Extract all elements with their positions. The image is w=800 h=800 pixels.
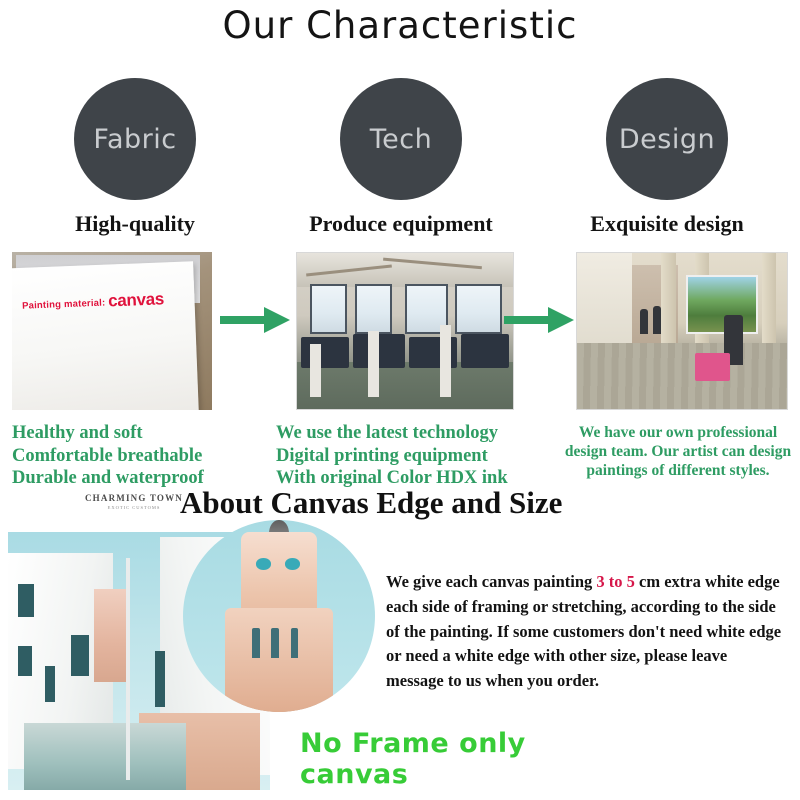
feature-caption-design: Exquisite design bbox=[534, 211, 800, 237]
tower-dome-detail bbox=[256, 558, 271, 570]
feature-blurb-design: We have our own professional design team… bbox=[562, 424, 794, 481]
printer-unit bbox=[461, 334, 509, 368]
tower-dome-detail bbox=[285, 558, 300, 570]
canvas-edge-description: We give each canvas painting 3 to 5 cm e… bbox=[386, 570, 786, 694]
blurb-line: Comfortable breathable bbox=[12, 445, 274, 468]
circle-badge-wrap: Fabric bbox=[2, 78, 268, 200]
tower-column bbox=[252, 628, 260, 659]
tower-lower bbox=[225, 608, 333, 712]
no-frame-note: No Frame only canvas bbox=[300, 728, 630, 790]
studio-artist bbox=[640, 309, 648, 334]
arrow-right-icon bbox=[504, 305, 576, 340]
photo-art-studio bbox=[576, 252, 788, 410]
description-highlight-size: 3 to 5 bbox=[596, 572, 635, 591]
circle-badge-fabric: Fabric bbox=[74, 78, 196, 200]
tower-column bbox=[271, 628, 279, 659]
studio-paint-cart bbox=[695, 353, 731, 381]
canvas-sheet-image: Painting material: canvas bbox=[12, 252, 212, 410]
photo-tower-closeup-inset bbox=[183, 520, 375, 712]
description-part-1: We give each canvas painting bbox=[386, 572, 596, 591]
photo-canvas-material: Painting material: canvas bbox=[12, 252, 212, 410]
section-title-canvas-edge: About Canvas Edge and Size bbox=[180, 485, 680, 521]
factory-floor bbox=[297, 362, 513, 409]
canvas-sheet-front bbox=[12, 261, 199, 410]
circle-badge-wrap: Design bbox=[534, 78, 800, 200]
page-title: Our Characteristic bbox=[0, 4, 800, 47]
printer-post bbox=[440, 325, 451, 397]
photo-printing-factory bbox=[296, 252, 514, 410]
factory-window bbox=[355, 284, 392, 334]
studio-landscape-painting bbox=[686, 275, 757, 334]
tower-column bbox=[291, 628, 299, 659]
street-window bbox=[71, 635, 89, 676]
feature-caption-fabric: High-quality bbox=[2, 211, 268, 237]
feature-caption-tech: Produce equipment bbox=[268, 211, 534, 237]
street-window bbox=[18, 584, 34, 618]
street-window bbox=[45, 666, 55, 702]
feature-column-fabric: Fabric High-quality bbox=[2, 78, 268, 237]
factory-window bbox=[310, 284, 347, 334]
studio-floor bbox=[577, 343, 787, 409]
street-window bbox=[18, 646, 31, 677]
blurb-line: Healthy and soft bbox=[12, 422, 274, 445]
factory-window bbox=[455, 284, 503, 334]
printer-post bbox=[310, 344, 321, 397]
street-bell-tower bbox=[94, 589, 128, 682]
street-lamp-post bbox=[126, 558, 130, 780]
blurb-line: We use the latest technology bbox=[276, 422, 544, 445]
canvas-caption-prefix: Painting material: bbox=[22, 297, 109, 311]
printer-unit bbox=[301, 337, 349, 368]
feature-column-design: Design Exquisite design bbox=[534, 78, 800, 237]
printer-post bbox=[368, 331, 379, 397]
blurb-line: design team. Our artist can design bbox=[562, 443, 794, 462]
street-window bbox=[155, 651, 165, 708]
studio-artist bbox=[653, 306, 661, 334]
arrow-right-icon bbox=[220, 305, 292, 340]
circle-badge-label: Tech bbox=[370, 124, 432, 155]
brand-logo-tagline: EXOTIC CUSTOMS bbox=[74, 505, 194, 510]
studio-image bbox=[577, 253, 787, 409]
circle-badge-label: Fabric bbox=[93, 124, 176, 155]
circle-badge-design: Design bbox=[606, 78, 728, 200]
canvas-caption-highlight: canvas bbox=[108, 289, 165, 310]
factory-image bbox=[297, 253, 513, 409]
blurb-line: Digital printing equipment bbox=[276, 445, 544, 468]
brand-logo: CHARMING TOWN EXOTIC CUSTOMS bbox=[74, 493, 194, 510]
circle-badge-tech: Tech bbox=[340, 78, 462, 200]
circle-badge-label: Design bbox=[619, 124, 715, 155]
feature-column-tech: Tech Produce equipment bbox=[268, 78, 534, 237]
street-road bbox=[24, 723, 186, 790]
blurb-line: We have our own professional bbox=[562, 424, 794, 443]
infographic-page: Our Characteristic Fabric High-quality T… bbox=[0, 0, 800, 800]
feature-blurb-tech: We use the latest technology Digital pri… bbox=[276, 422, 544, 490]
feature-blurb-fabric: Healthy and soft Comfortable breathable … bbox=[12, 422, 274, 490]
brand-logo-name: CHARMING TOWN bbox=[74, 493, 194, 503]
blurb-line: paintings of different styles. bbox=[562, 462, 794, 481]
circle-badge-wrap: Tech bbox=[268, 78, 534, 200]
